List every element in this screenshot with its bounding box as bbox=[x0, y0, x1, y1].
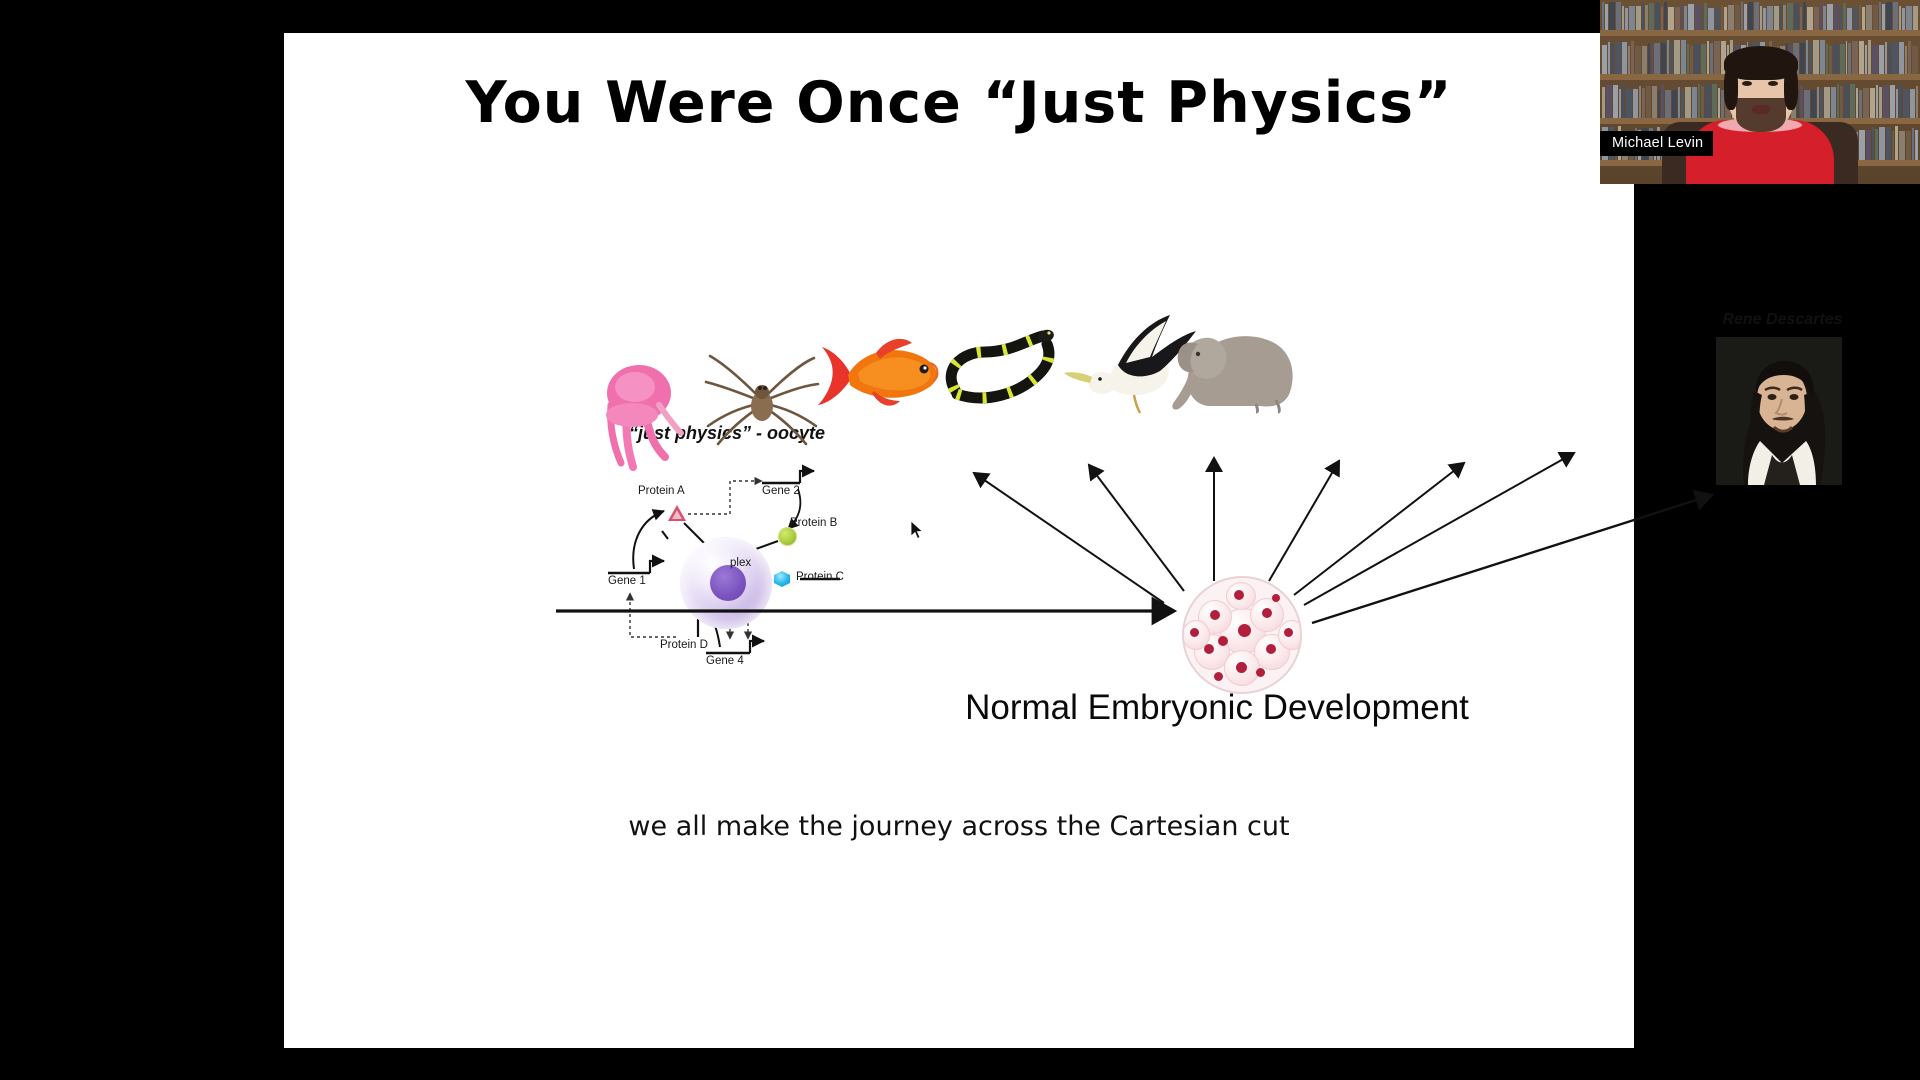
descartes-face bbox=[1716, 337, 1842, 485]
book-spine bbox=[1916, 86, 1918, 118]
book-spine bbox=[1654, 43, 1660, 74]
book-spine bbox=[1873, 5, 1878, 30]
book-spine bbox=[1870, 88, 1875, 118]
book-spine bbox=[1800, 85, 1803, 118]
descartes-portrait-image bbox=[1716, 337, 1842, 485]
book-spine bbox=[1695, 4, 1700, 30]
book-spine bbox=[1885, 42, 1887, 74]
book-spine bbox=[1787, 3, 1793, 30]
book-spine bbox=[1763, 8, 1766, 30]
book-spine bbox=[1615, 42, 1621, 74]
book-spine bbox=[1783, 5, 1786, 30]
book-spine bbox=[1807, 7, 1813, 30]
book-spine bbox=[1687, 44, 1689, 74]
person-mouth bbox=[1752, 105, 1770, 114]
book-spine bbox=[1633, 89, 1638, 118]
book-spine bbox=[1852, 41, 1858, 74]
book-spine bbox=[1837, 84, 1839, 118]
book-spine bbox=[1859, 130, 1865, 160]
book-spine bbox=[1875, 129, 1878, 160]
book-spine bbox=[1834, 4, 1839, 30]
book-spine bbox=[1648, 43, 1650, 74]
book-spine bbox=[1823, 6, 1826, 30]
book-spine bbox=[1872, 127, 1874, 160]
book-spine bbox=[1645, 5, 1648, 30]
book-spine bbox=[1906, 131, 1911, 160]
book-spine bbox=[1820, 89, 1823, 118]
book-spine bbox=[1811, 90, 1816, 118]
book-spine bbox=[1681, 89, 1684, 118]
book-spine bbox=[1833, 44, 1839, 74]
book-spine bbox=[1701, 44, 1706, 74]
book-spine bbox=[1642, 88, 1645, 118]
book-spine bbox=[1813, 40, 1819, 74]
development-arrows bbox=[284, 33, 1634, 1048]
book-spine bbox=[1701, 8, 1703, 30]
book-spine bbox=[1622, 42, 1627, 74]
book-spine bbox=[1708, 8, 1714, 30]
book-spine bbox=[1879, 127, 1885, 160]
book-spine bbox=[1681, 4, 1683, 30]
book-spine bbox=[1652, 86, 1657, 118]
book-spine bbox=[1826, 44, 1828, 74]
screen-root: You Were Once “Just Physics” “just physi… bbox=[0, 0, 1920, 1080]
book-spine bbox=[1622, 84, 1625, 118]
book-spine bbox=[1840, 8, 1842, 30]
book-spine bbox=[1714, 41, 1720, 74]
book-spine bbox=[1876, 85, 1878, 118]
book-spine bbox=[1868, 40, 1871, 74]
book-spine bbox=[1827, 4, 1833, 30]
book-spine bbox=[1840, 86, 1843, 118]
book-spine bbox=[1800, 43, 1805, 74]
book-spine bbox=[1646, 86, 1652, 118]
book-spine bbox=[1899, 131, 1905, 160]
book-spine bbox=[1840, 44, 1845, 74]
book-spine bbox=[1848, 43, 1851, 74]
book-spine bbox=[1705, 84, 1711, 118]
book-spine bbox=[1803, 2, 1806, 30]
book-spine bbox=[1899, 84, 1902, 118]
book-spine bbox=[1892, 42, 1898, 74]
book-spine bbox=[1712, 84, 1717, 118]
book-spine bbox=[1844, 84, 1850, 118]
book-spine bbox=[1613, 85, 1618, 118]
book-spine bbox=[1626, 89, 1632, 118]
book-spine bbox=[1760, 6, 1762, 30]
book-spine bbox=[1608, 42, 1610, 74]
book-spine bbox=[1910, 89, 1915, 118]
book-spine bbox=[1913, 6, 1918, 30]
zona-pellucida bbox=[1182, 576, 1302, 694]
book-spine bbox=[1639, 86, 1641, 118]
book-spine bbox=[1602, 87, 1605, 118]
embryo-morula bbox=[1182, 576, 1302, 694]
book-spine bbox=[1866, 130, 1871, 160]
book-spine bbox=[1602, 45, 1607, 74]
book-spine bbox=[1902, 8, 1905, 30]
normal-embryonic-development-label: Normal Embryonic Development bbox=[872, 688, 1562, 728]
book-spine bbox=[1879, 2, 1881, 30]
book-spine bbox=[1649, 3, 1655, 30]
book-spine bbox=[1728, 5, 1734, 30]
book-spine bbox=[1859, 5, 1861, 30]
book-spine bbox=[1862, 7, 1865, 30]
book-spine bbox=[1853, 8, 1858, 30]
book-spine bbox=[1658, 90, 1660, 118]
book-spine bbox=[1863, 88, 1869, 118]
book-spine bbox=[1820, 40, 1825, 74]
book-spine bbox=[1912, 128, 1914, 160]
book-spine bbox=[1704, 3, 1707, 30]
book-spine bbox=[1651, 45, 1654, 74]
book-spine bbox=[1674, 40, 1680, 74]
book-spine bbox=[1829, 46, 1832, 74]
book-spine bbox=[1767, 6, 1773, 30]
book-spine bbox=[1625, 8, 1628, 30]
person-eye-left bbox=[1742, 81, 1752, 86]
book-spine bbox=[1735, 5, 1740, 30]
book-spine bbox=[1701, 86, 1704, 118]
book-spine bbox=[1684, 6, 1687, 30]
book-spine bbox=[1616, 2, 1621, 30]
book-spine bbox=[1721, 5, 1723, 30]
book-spine bbox=[1692, 87, 1697, 118]
book-spine bbox=[1741, 2, 1743, 30]
descartes-portrait-block: Rene Descartes bbox=[1716, 311, 1846, 486]
book-spine bbox=[1602, 2, 1604, 30]
book-spine bbox=[1847, 8, 1853, 30]
book-spine bbox=[1710, 43, 1713, 74]
book-spine bbox=[1859, 41, 1864, 74]
presentation-slide: You Were Once “Just Physics” “just physi… bbox=[284, 33, 1634, 1048]
book-spine bbox=[1688, 4, 1694, 30]
book-spine bbox=[1672, 90, 1677, 118]
book-spine bbox=[1905, 46, 1907, 74]
book-spine bbox=[1912, 46, 1918, 74]
book-spine bbox=[1856, 88, 1858, 118]
book-spine bbox=[1888, 44, 1891, 74]
book-spine bbox=[1824, 87, 1830, 118]
book-spine bbox=[1718, 88, 1720, 118]
book-spine bbox=[1896, 89, 1898, 118]
book-spine bbox=[1661, 7, 1663, 30]
book-spine bbox=[1754, 2, 1759, 30]
webcam-tile[interactable]: Michael Levin bbox=[1600, 0, 1920, 184]
book-spine bbox=[1690, 46, 1693, 74]
book-spine bbox=[1665, 90, 1671, 118]
book-spine bbox=[1892, 131, 1894, 160]
book-spine bbox=[1804, 90, 1810, 118]
book-spine bbox=[1843, 3, 1846, 30]
book-spine bbox=[1915, 130, 1918, 160]
book-spine bbox=[1642, 46, 1647, 74]
book-spine bbox=[1774, 6, 1779, 30]
person-beard bbox=[1736, 98, 1786, 132]
book-spine bbox=[1631, 41, 1634, 74]
book-spine bbox=[1865, 45, 1867, 74]
book-spine bbox=[1780, 3, 1782, 30]
book-spine bbox=[1724, 7, 1727, 30]
book-spine bbox=[1872, 45, 1878, 74]
book-spine bbox=[1642, 3, 1644, 30]
book-spine bbox=[1715, 8, 1720, 30]
book-spine bbox=[1628, 46, 1630, 74]
book-spine bbox=[1809, 42, 1812, 74]
book-spine bbox=[1899, 42, 1904, 74]
book-spine bbox=[1707, 41, 1709, 74]
book-spine bbox=[1605, 4, 1608, 30]
book-spine bbox=[1899, 6, 1901, 30]
book-spine bbox=[1859, 90, 1862, 118]
book-spine bbox=[1661, 43, 1666, 74]
book-spine bbox=[1879, 87, 1882, 118]
book-spine bbox=[1882, 4, 1885, 30]
book-spine bbox=[1908, 41, 1911, 74]
book-spine bbox=[1806, 40, 1808, 74]
book-spine bbox=[1850, 84, 1855, 118]
book-spine bbox=[1866, 5, 1872, 30]
book-spine bbox=[1748, 2, 1754, 30]
book-spine bbox=[1606, 85, 1612, 118]
book-spine bbox=[1670, 42, 1673, 74]
book-spine bbox=[1622, 6, 1624, 30]
book-spine bbox=[1664, 2, 1667, 30]
book-spine bbox=[1678, 87, 1680, 118]
mouse-cursor bbox=[911, 521, 924, 540]
book-spine bbox=[1636, 6, 1641, 30]
person-hair-side-left bbox=[1724, 66, 1738, 110]
book-spine bbox=[1886, 127, 1891, 160]
book-spine bbox=[1903, 89, 1909, 118]
book-spine bbox=[1886, 2, 1892, 30]
book-spine bbox=[1846, 41, 1848, 74]
book-spine bbox=[1817, 87, 1819, 118]
book-spine bbox=[1906, 6, 1912, 30]
book-spine bbox=[1655, 3, 1660, 30]
book-spine bbox=[1794, 3, 1799, 30]
book-spine bbox=[1629, 6, 1635, 30]
slide-caption: we all make the journey across the Carte… bbox=[284, 811, 1634, 842]
book-spine bbox=[1619, 89, 1621, 118]
book-spine bbox=[1675, 7, 1680, 30]
book-spine bbox=[1883, 85, 1889, 118]
participant-name-label: Michael Levin bbox=[1600, 131, 1713, 156]
book-spine bbox=[1820, 4, 1822, 30]
book-spine bbox=[1890, 85, 1895, 118]
book-spine bbox=[1609, 2, 1615, 30]
person-hair-side-right bbox=[1784, 66, 1798, 110]
book-spine bbox=[1800, 7, 1802, 30]
book-spine bbox=[1681, 40, 1686, 74]
book-spine bbox=[1879, 45, 1884, 74]
book-spine bbox=[1744, 4, 1747, 30]
book-spine bbox=[1698, 84, 1700, 118]
bookshelf-row-1 bbox=[1602, 2, 1918, 30]
book-spine bbox=[1895, 126, 1898, 160]
book-spine bbox=[1831, 87, 1836, 118]
book-spine bbox=[1667, 40, 1669, 74]
book-spine bbox=[1685, 87, 1691, 118]
descartes-label: Rene Descartes bbox=[1710, 311, 1855, 329]
book-spine bbox=[1814, 7, 1819, 30]
book-spine bbox=[1668, 7, 1674, 30]
book-spine bbox=[1611, 44, 1614, 74]
book-spine bbox=[1635, 46, 1641, 74]
book-spine bbox=[1893, 2, 1898, 30]
book-spine bbox=[1661, 85, 1664, 118]
person-eye-right bbox=[1768, 81, 1778, 86]
book-spine bbox=[1694, 44, 1700, 74]
